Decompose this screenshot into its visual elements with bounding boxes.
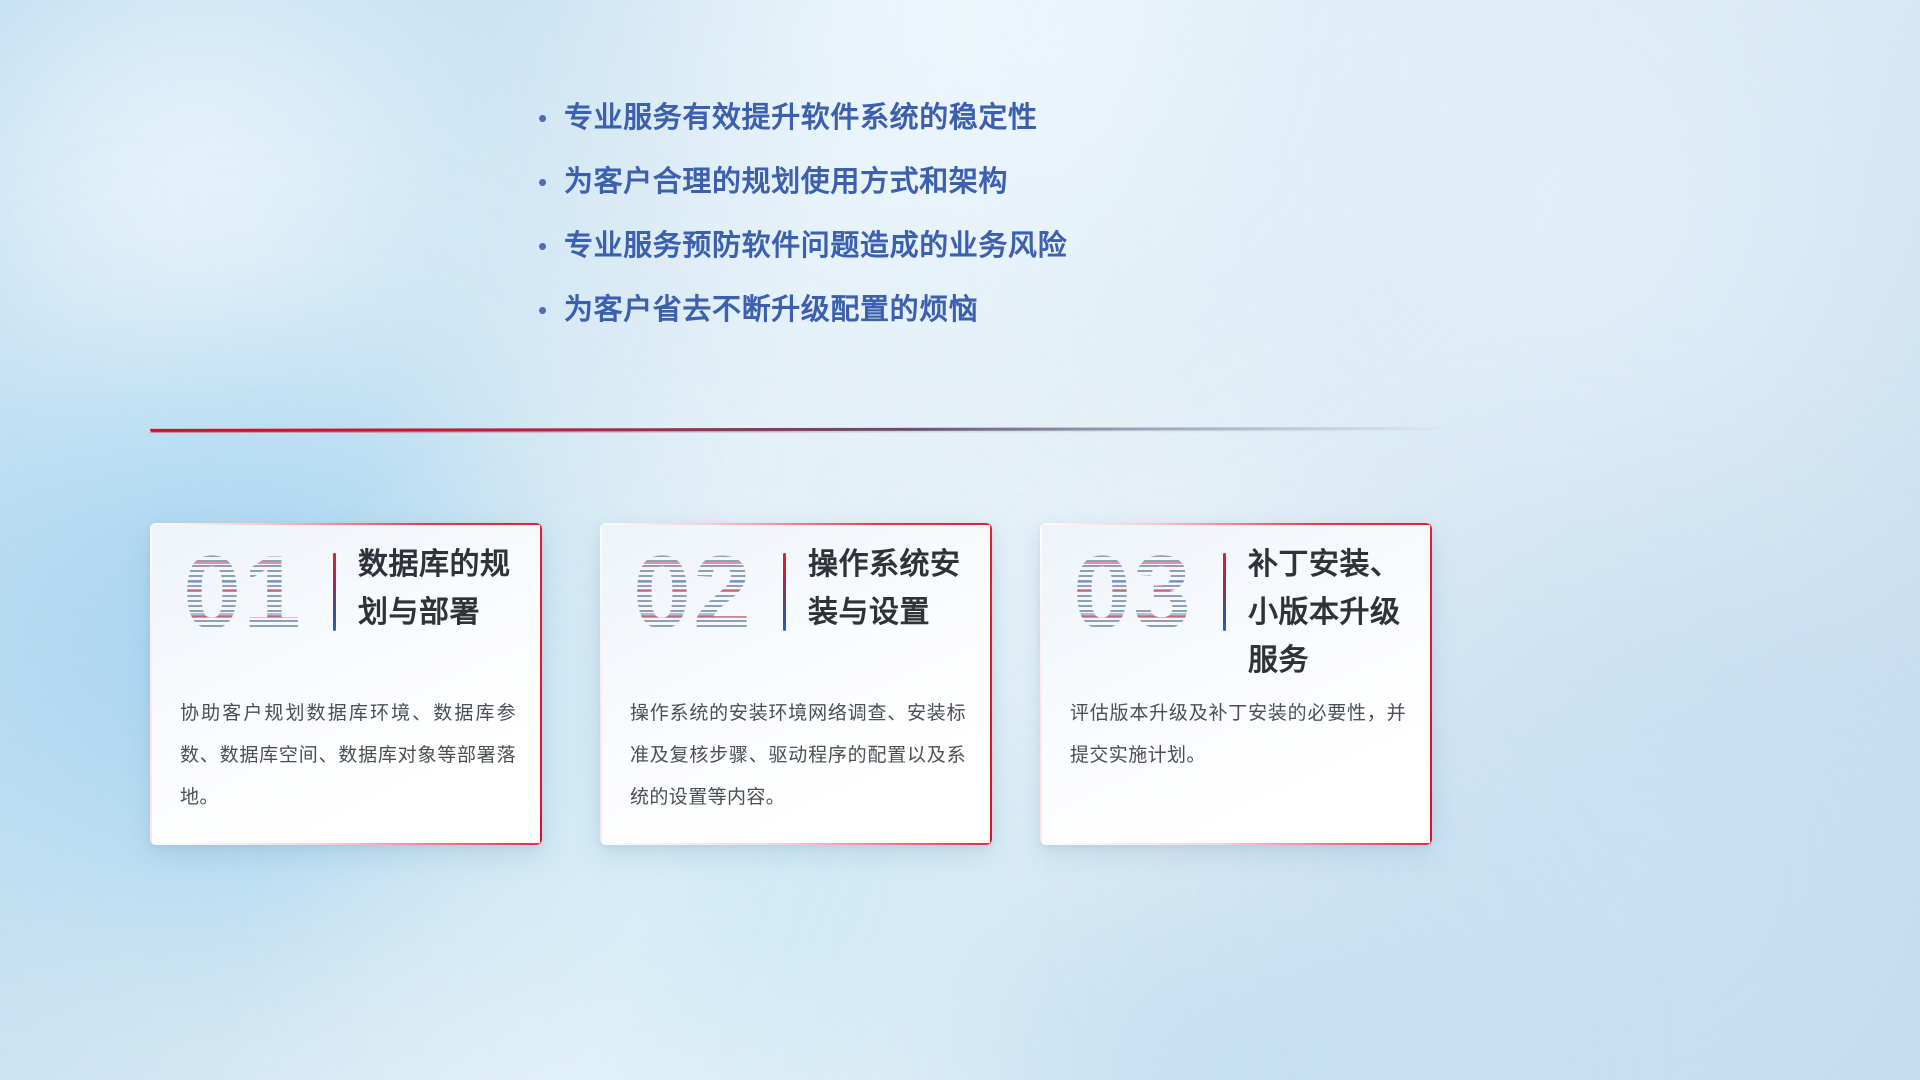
card-title: 数据库的规划与部署 [358, 541, 530, 637]
card-edge-bottom [1040, 843, 1432, 845]
card-title: 补丁安装、小版本升级服务 [1248, 541, 1420, 685]
bullet-text: 为客户合理的规划使用方式和架构 [564, 160, 1008, 204]
service-card[interactable]: 02 02 操作系统安装与设置 操作系统的安装环境网络调查、安装标准及复核步骤、… [600, 523, 992, 845]
card-number-watermark: 03 [1058, 535, 1208, 651]
card-body-text: 协助客户规划数据库环境、数据库参数、数据库空间、数据库对象等部署落地。 [180, 693, 516, 819]
card-number-watermark: 02 [618, 535, 768, 651]
card-header: 03 03 补丁安装、小版本升级服务 [1040, 523, 1432, 663]
card-header: 02 02 操作系统安装与设置 [600, 523, 992, 663]
card-accent-bar [1223, 553, 1226, 631]
section-divider [150, 425, 1450, 435]
card-edge-bottom [600, 843, 992, 845]
list-item: • 为客户合理的规划使用方式和架构 [530, 160, 1230, 224]
service-card[interactable]: 03 03 补丁安装、小版本升级服务 评估版本升级及补丁安装的必要性，并提交实施… [1040, 523, 1432, 845]
card-title: 操作系统安装与设置 [808, 541, 980, 637]
card-body-text: 评估版本升级及补丁安装的必要性，并提交实施计划。 [1070, 693, 1406, 777]
list-item: • 专业服务预防软件问题造成的业务风险 [530, 224, 1230, 288]
card-accent-bar [333, 553, 336, 631]
card-number-watermark: 01 [168, 535, 318, 651]
bullet-text: 专业服务有效提升软件系统的稳定性 [564, 96, 1038, 140]
service-card-group: 01 01 数据库的规划与部署 协助客户规划数据库环境、数据库参数、数据库空间、… [150, 523, 1450, 843]
bullet-dot-icon: • [530, 224, 564, 268]
list-item: • 专业服务有效提升软件系统的稳定性 [530, 96, 1230, 160]
card-edge-bottom [150, 843, 542, 845]
card-accent-bar [783, 553, 786, 631]
bullet-text: 为客户省去不断升级配置的烦恼 [564, 288, 978, 332]
bullet-dot-icon: • [530, 96, 564, 140]
card-header: 01 01 数据库的规划与部署 [150, 523, 542, 663]
card-body-text: 操作系统的安装环境网络调查、安装标准及复核步骤、驱动程序的配置以及系统的设置等内… [630, 693, 966, 819]
bullet-dot-icon: • [530, 288, 564, 332]
bullet-dot-icon: • [530, 160, 564, 204]
bullet-text: 专业服务预防软件问题造成的业务风险 [564, 224, 1067, 268]
benefits-bullet-list: • 专业服务有效提升软件系统的稳定性 • 为客户合理的规划使用方式和架构 • 专… [530, 96, 1230, 352]
service-card[interactable]: 01 01 数据库的规划与部署 协助客户规划数据库环境、数据库参数、数据库空间、… [150, 523, 542, 845]
list-item: • 为客户省去不断升级配置的烦恼 [530, 288, 1230, 352]
